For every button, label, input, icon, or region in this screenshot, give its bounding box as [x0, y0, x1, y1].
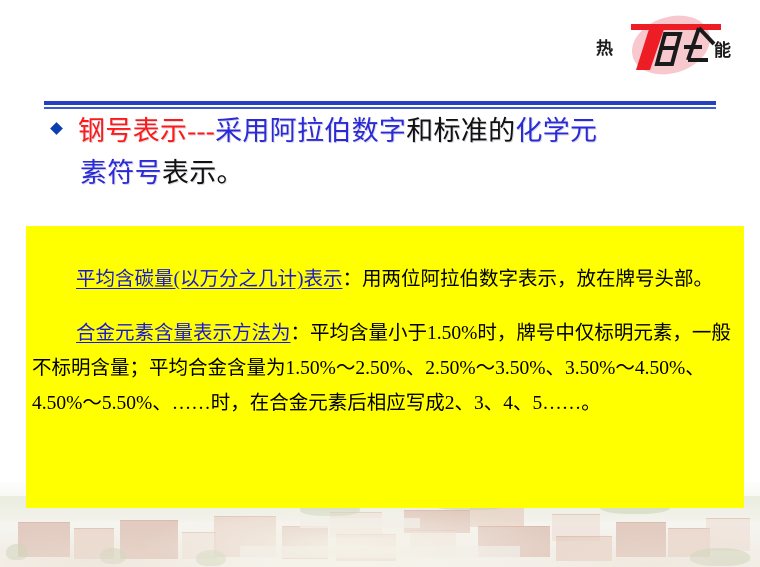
logo-right-char: 能	[714, 40, 731, 60]
presentation-slide: 热 能 钢号表示---采用阿拉伯数字和标准的化学元 素符号表示。 平均含碳量(以…	[0, 0, 760, 567]
content-paragraph-1: 平均含碳量(以万分之几计)表示：用两位阿拉伯数字表示，放在牌号头部。	[32, 262, 734, 297]
thermal-energy-logo: 热 能	[592, 14, 738, 76]
paragraph-2-lead: 合金元素含量表示方法为	[76, 323, 291, 344]
logo-red-bar	[631, 24, 721, 30]
title-seg-black-1: 和标准的	[406, 116, 515, 146]
paragraph-1-body: ：用两位阿拉伯数字表示，放在牌号头部。	[343, 269, 714, 290]
paragraph-1-lead: 平均含碳量(以万分之几计)表示	[76, 269, 343, 290]
content-paragraph-2: 合金元素含量表示方法为：平均含量小于1.50%时，牌号中仅标明元素，一般不标明含…	[32, 316, 734, 421]
title-seg-black-2: 表示。	[162, 158, 244, 188]
diamond-bullet-icon	[50, 122, 63, 135]
title-seg-blue-3: 素符号	[80, 158, 162, 188]
title-seg-red: 钢号表示---	[78, 116, 215, 146]
title-seg-blue-2: 化学元	[515, 116, 597, 146]
title-divider	[44, 101, 716, 109]
title-line-2: 素符号表示。	[78, 152, 732, 194]
divider-thin-rule	[44, 107, 716, 109]
bullet-marker	[52, 110, 78, 138]
title-seg-blue-1: 采用阿拉伯数字	[215, 116, 406, 146]
slide-title-block: 钢号表示---采用阿拉伯数字和标准的化学元 素符号表示。	[52, 110, 732, 194]
logo-left-char: 热	[596, 38, 613, 58]
title-line-1: 钢号表示---采用阿拉伯数字和标准的化学元	[78, 110, 732, 152]
slide-title-text: 钢号表示---采用阿拉伯数字和标准的化学元 素符号表示。	[78, 110, 732, 194]
highlight-content-box: 平均含碳量(以万分之几计)表示：用两位阿拉伯数字表示，放在牌号头部。 合金元素含…	[26, 226, 744, 508]
title-row: 钢号表示---采用阿拉伯数字和标准的化学元 素符号表示。	[52, 110, 732, 194]
